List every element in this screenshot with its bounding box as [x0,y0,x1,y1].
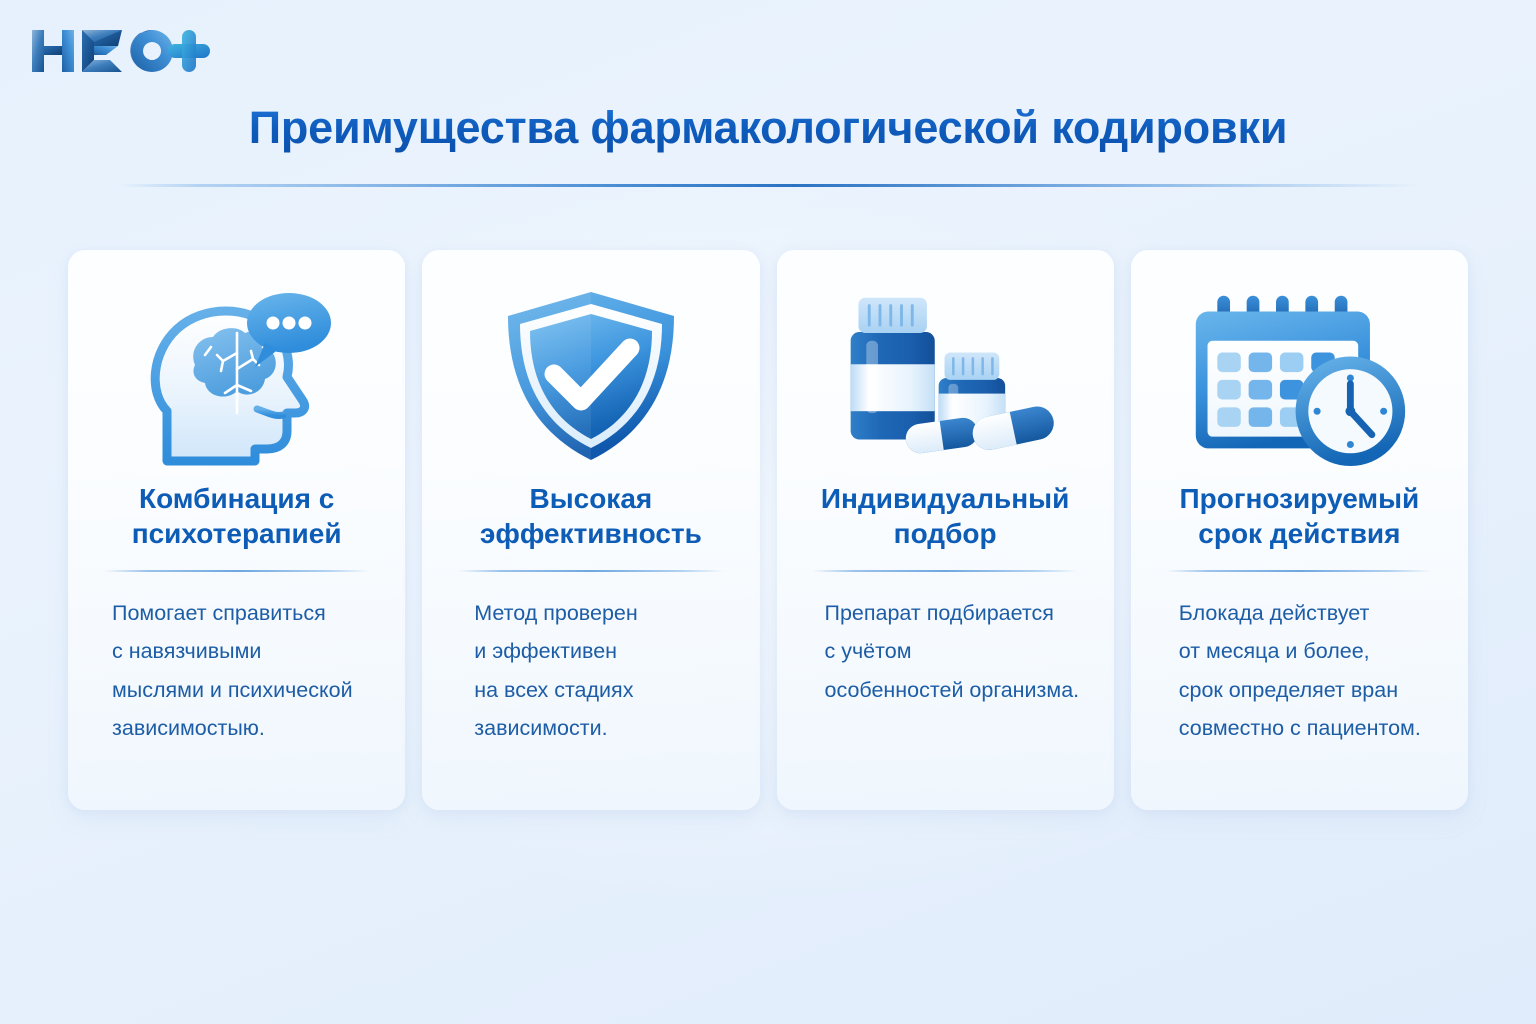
card-divider [1166,570,1432,572]
card-body-text: Препарат подбирается с учётом особенност… [791,594,1100,709]
logo-letter-n [32,30,74,72]
benefit-card-predictable-duration[interactable]: Прогнозируемый срок действия Блокада дей… [1131,250,1468,810]
card-divider [458,570,724,572]
card-title: Прогнозируемый срок действия [1145,476,1454,560]
card-body-text: Блокада действует от месяца и более, сро… [1145,594,1454,747]
neo-plus-logo[interactable] [22,22,212,80]
card-title: Высокая эффективность [436,476,745,560]
header-divider [118,184,1418,187]
logo-letter-e [82,30,122,72]
card-title: Комбинация с психотерапией [82,476,391,560]
benefit-card-combination[interactable]: Комбинация с психотерапией Помогает спра… [68,250,405,810]
benefit-card-effectiveness[interactable]: Высокая эффективность Метод проверен и э… [422,250,759,810]
card-divider [104,570,370,572]
logo-letter-o [130,30,173,72]
logo-plus-icon [168,30,210,72]
benefit-card-individual-selection[interactable]: Индивидуальный подбор Препарат подбирает… [777,250,1114,810]
card-body-text: Помогает справиться с навязчивыми мыслям… [82,594,391,747]
medicine-bottles-pills-icon [791,276,1100,476]
benefits-card-row: Комбинация с психотерапией Помогает спра… [68,250,1468,810]
calendar-clock-icon [1145,276,1454,476]
card-body-text: Метод проверен и эффективен на всех стад… [436,594,745,747]
card-title: Индивидуальный подбор [791,476,1100,560]
shield-check-icon [436,276,745,476]
page-header: Преимущества фармакологической кодировки [0,104,1536,153]
card-divider [812,570,1078,572]
page-title: Преимущества фармакологической кодировки [0,104,1536,153]
brain-head-speech-bubble-icon [82,276,391,476]
